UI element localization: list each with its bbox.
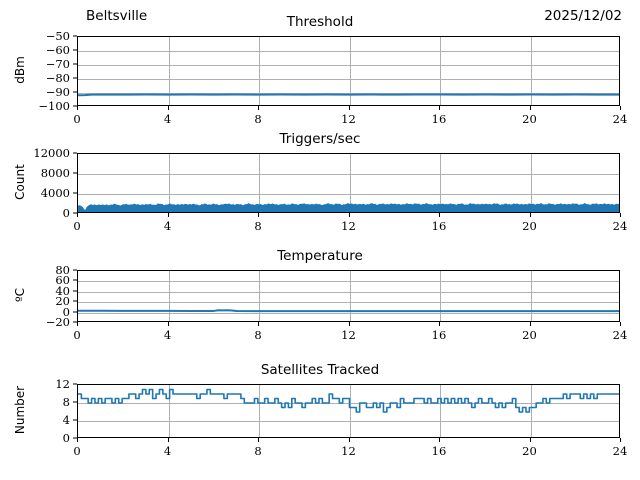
x-axis-tick-mark [168,106,169,110]
x-axis-tick-mark [258,106,259,110]
y-axis-tick-label: −50 [0,29,70,43]
y-axis-tick-label: −60 [0,43,70,57]
x-axis-tick-label: 12 [341,219,356,233]
x-axis-tick-mark [620,213,621,217]
x-axis-tick-label: 8 [254,219,261,233]
data-trace [78,271,620,322]
chart-page: Beltsville 2025/12/02 Threshold−50−60−70… [0,0,640,480]
y-axis-tick-label: 8 [0,395,70,409]
y-axis-tick-mark [73,384,77,385]
y-axis-tick-mark [73,78,77,79]
x-axis-tick-mark [620,106,621,110]
y-axis-tick-mark [73,301,77,302]
x-axis-tick-label: 12 [341,444,356,458]
x-axis-tick-label: 24 [613,444,628,458]
y-axis-tick-label: −20 [0,315,70,329]
y-axis-tick-label: 4 [0,413,70,427]
x-axis-tick-label: 20 [522,444,537,458]
panel-title: Temperature [0,248,640,264]
y-axis-tick-label: 0 [0,431,70,445]
plot-area [77,270,620,322]
y-axis-tick-label: −100 [0,99,70,113]
x-axis-tick-label: 8 [254,328,261,342]
y-axis-tick-mark [73,92,77,93]
y-axis-tick-mark [73,36,77,37]
y-axis-label: Number [13,365,27,455]
y-axis-label: dBm [13,25,27,115]
x-axis-tick-label: 24 [613,112,628,126]
y-axis-tick-label: −90 [0,85,70,99]
x-axis-tick-mark [77,106,78,110]
x-axis-tick-mark [620,438,621,442]
y-axis-label: ºC [13,250,27,340]
x-axis-tick-mark [530,213,531,217]
x-axis-tick-label: 0 [73,328,80,342]
x-axis-tick-mark [620,322,621,326]
x-axis-tick-label: 0 [73,112,80,126]
y-axis-label: Count [13,137,27,227]
x-axis-tick-label: 16 [432,219,447,233]
x-axis-tick-mark [258,213,259,217]
y-axis-tick-label: −80 [0,71,70,85]
y-axis-tick-mark [73,311,77,312]
data-trace [78,154,620,213]
x-axis-tick-mark [530,438,531,442]
x-axis-tick-mark [258,322,259,326]
x-axis-tick-mark [439,322,440,326]
panel-title: Threshold [0,14,640,30]
x-axis-tick-mark [77,438,78,442]
x-axis-tick-label: 12 [341,112,356,126]
x-axis-tick-label: 4 [164,328,171,342]
x-axis-tick-mark [349,438,350,442]
x-axis-tick-label: 24 [613,328,628,342]
y-axis-tick-mark [73,153,77,154]
y-axis-tick-label: 12 [0,377,70,391]
x-axis-tick-label: 4 [164,444,171,458]
x-axis-tick-mark [530,106,531,110]
x-axis-tick-label: 0 [73,219,80,233]
x-axis-tick-mark [168,213,169,217]
y-axis-tick-mark [73,173,77,174]
x-axis-tick-label: 16 [432,328,447,342]
x-axis-tick-label: 16 [432,112,447,126]
y-axis-tick-mark [73,420,77,421]
y-axis-tick-mark [73,402,77,403]
x-axis-tick-label: 24 [613,219,628,233]
x-axis-tick-mark [168,438,169,442]
x-axis-tick-mark [168,322,169,326]
x-axis-tick-label: 16 [432,444,447,458]
y-axis-tick-mark [73,50,77,51]
x-axis-tick-label: 20 [522,112,537,126]
y-axis-tick-label: 4000 [0,186,70,200]
y-axis-tick-label: 0 [0,206,70,220]
x-axis-tick-mark [77,213,78,217]
x-axis-tick-label: 0 [73,444,80,458]
x-axis-tick-label: 4 [164,112,171,126]
y-axis-tick-label: 8000 [0,166,70,180]
x-axis-tick-mark [349,106,350,110]
x-axis-tick-label: 4 [164,219,171,233]
data-trace [78,37,620,106]
x-axis-tick-label: 8 [254,112,261,126]
plot-area [77,153,620,213]
x-axis-tick-mark [530,322,531,326]
x-axis-tick-mark [439,106,440,110]
x-axis-tick-mark [349,213,350,217]
y-axis-tick-mark [73,64,77,65]
y-axis-tick-mark [73,193,77,194]
y-axis-tick-label: −70 [0,57,70,71]
x-axis-tick-label: 20 [522,219,537,233]
panel-title: Satellites Tracked [0,362,640,378]
x-axis-tick-mark [77,322,78,326]
y-axis-tick-mark [73,270,77,271]
panel-title: Triggers/sec [0,131,640,147]
y-axis-tick-mark [73,290,77,291]
data-trace [78,385,620,438]
x-axis-tick-label: 12 [341,328,356,342]
y-axis-tick-label: 12000 [0,146,70,160]
x-axis-tick-mark [439,438,440,442]
y-axis-tick-mark [73,280,77,281]
x-axis-tick-mark [439,213,440,217]
x-axis-tick-label: 20 [522,328,537,342]
plot-area [77,36,620,106]
x-axis-tick-mark [349,322,350,326]
x-axis-tick-mark [258,438,259,442]
x-axis-tick-label: 8 [254,444,261,458]
plot-area [77,384,620,438]
